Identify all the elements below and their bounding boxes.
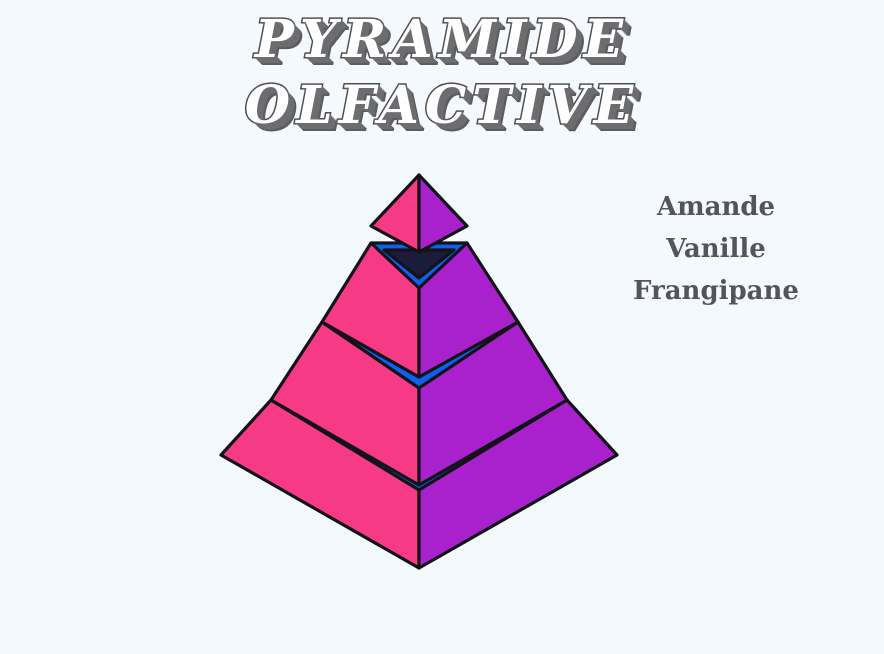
fragrance-notes-list: Amande Vanille Frangipane [618, 186, 814, 312]
note-item-2: Vanille [618, 228, 814, 270]
tier-1-left-face [371, 175, 419, 252]
pyramid-tier-1[interactable] [371, 175, 467, 252]
pyramid-diagram [0, 0, 884, 654]
tier-1-right-face [419, 175, 467, 252]
note-item-1: Amande [618, 186, 814, 228]
pyramid-svg [0, 0, 884, 654]
note-item-3: Frangipane [618, 270, 814, 312]
poster-canvas: PYRAMIDE OLFACTIVE [0, 0, 884, 654]
